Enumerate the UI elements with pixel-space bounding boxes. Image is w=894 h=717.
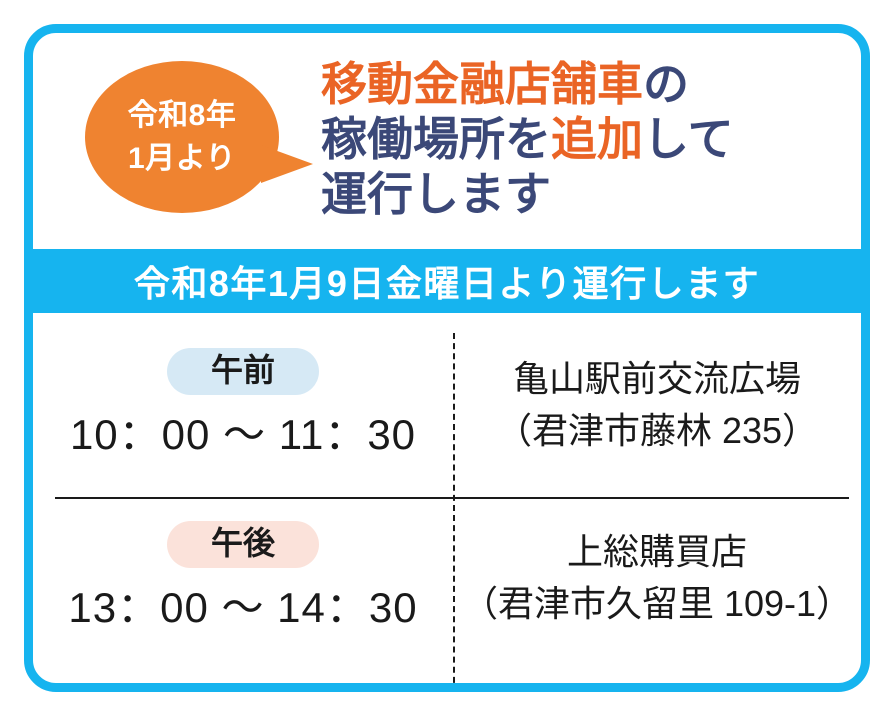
bubble-line-2: 1月より (128, 137, 236, 181)
headline-line-2: 稼働場所を追加して (321, 112, 734, 167)
headline-line-1: 移動金融店舗車の (321, 57, 734, 112)
headline-line-2-navy-before: 稼働場所を (321, 113, 551, 165)
status-badge: 午後 (167, 521, 319, 568)
schedule-time-text: 10：00 〜 11：30 (70, 401, 416, 462)
table-row: 午後 13：00 〜 14：30 上総購買店 （君津市久留里 109-1） (33, 500, 861, 656)
headline-line-3: 運行します (321, 167, 734, 222)
schedule-time-cell: 午後 13：00 〜 14：30 (33, 521, 453, 635)
schedule-table: 午前 10：00 〜 11：30 亀山駅前交流広場 （君津市藤林 235） 午後… (33, 327, 861, 692)
status-badge: 午前 (167, 348, 319, 395)
schedule-location-cell: 上総購買店 （君津市久留里 109-1） (453, 526, 861, 630)
location-name: 上総購買店 (567, 526, 747, 578)
header-section: 令和8年 1月より 移動金融店舗車の 稼働場所を追加して 運行します (33, 33, 861, 249)
schedule-time-cell: 午前 10：00 〜 11：30 (33, 348, 453, 462)
announcement-poster: 令和8年 1月より 移動金融店舗車の 稼働場所を追加して 運行します 令和8年1… (24, 24, 870, 692)
headline-line-1-navy: の (643, 58, 689, 110)
schedule-location-cell: 亀山駅前交流広場 （君津市藤林 235） (453, 353, 861, 457)
speech-bubble-text: 令和8年 1月より (85, 61, 279, 213)
headline-line-2-orange: 追加 (551, 113, 643, 165)
headline-line-1-orange: 移動金融店舗車 (321, 58, 643, 110)
location-address: （君津市久留里 109-1） (462, 578, 852, 630)
bubble-line-1: 令和8年 (128, 94, 237, 138)
table-row: 午前 10：00 〜 11：30 亀山駅前交流広場 （君津市藤林 235） (33, 327, 861, 483)
start-date-banner: 令和8年1月9日金曜日より運行します (33, 249, 861, 313)
schedule-time-text: 13：00 〜 14：30 (68, 574, 417, 635)
row-divider (55, 497, 849, 499)
headline-line-3-navy: 運行します (321, 168, 551, 220)
start-date-banner-text: 令和8年1月9日金曜日より運行します (134, 255, 760, 307)
headline: 移動金融店舗車の 稼働場所を追加して 運行します (321, 57, 734, 223)
location-name: 亀山駅前交流広場 (513, 353, 801, 405)
headline-line-2-navy-after: して (643, 113, 734, 165)
location-address: （君津市藤林 235） (496, 405, 818, 457)
